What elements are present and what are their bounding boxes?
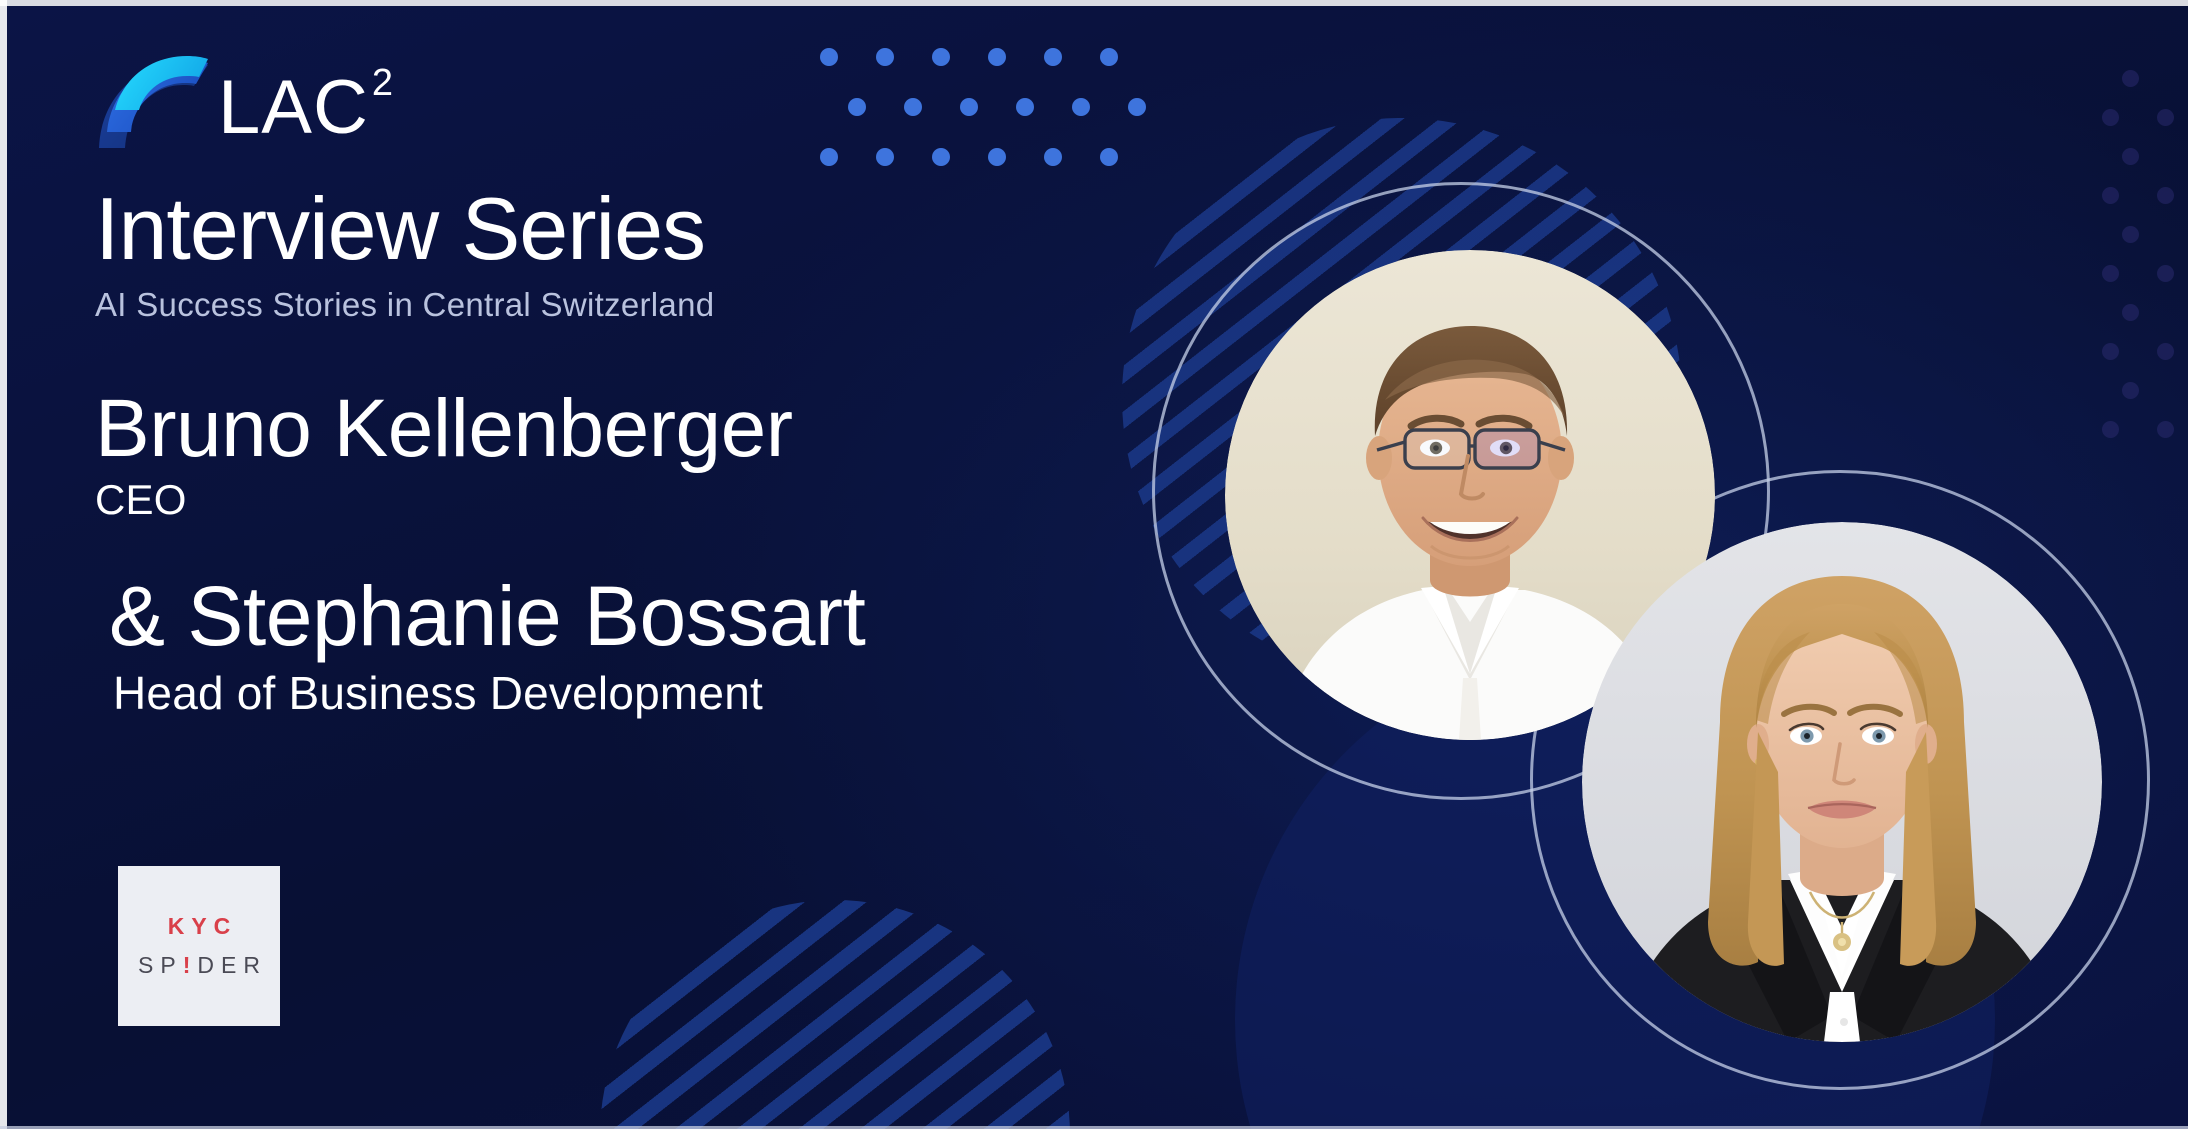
person-block-2: & Stephanie Bossart Head of Business Dev…	[109, 572, 1095, 720]
portrait-stephanie-bossart	[1582, 522, 2102, 1042]
kyc-spider-logo[interactable]: KYC SP!DER	[118, 866, 280, 1026]
dot-row	[2122, 70, 2174, 87]
dot-icon	[2102, 343, 2119, 360]
dot-icon	[2122, 226, 2139, 243]
dot-row	[2102, 187, 2174, 204]
dot-icon	[2157, 343, 2174, 360]
dot-icon	[2122, 382, 2139, 399]
kyc-logo-bottom-text: SP!DER	[131, 952, 267, 979]
dot-row	[2102, 109, 2174, 126]
bottom-edge-rule	[0, 1129, 2188, 1138]
kyc-logo-top-text: KYC	[161, 913, 238, 940]
series-title: Interview Series	[95, 184, 1095, 274]
dot-icon	[1100, 48, 1118, 66]
lac-logo-text: LAC	[218, 70, 369, 146]
spider-text-after: DER	[197, 952, 267, 979]
dot-icon	[2102, 265, 2119, 282]
interview-series-banner: LAC 2 Interview Series AI Success Storie…	[0, 0, 2188, 1138]
dot-icon	[2157, 109, 2174, 126]
dot-row	[2122, 382, 2174, 399]
dot-icon	[1100, 148, 1118, 166]
spider-text-before: SP	[138, 952, 183, 979]
lac2-wordmark: LAC 2	[218, 52, 393, 146]
dot-icon	[2102, 109, 2119, 126]
person-name: & Stephanie Bossart	[109, 572, 1095, 660]
banner-content: LAC 2 Interview Series AI Success Storie…	[95, 52, 1095, 720]
top-edge-rule	[0, 0, 2188, 6]
series-subtitle: AI Success Stories in Central Switzerlan…	[95, 286, 1095, 324]
dot-row	[2102, 343, 2174, 360]
dot-icon	[2122, 148, 2139, 165]
dot-row	[2102, 265, 2174, 282]
dot-icon	[2157, 421, 2174, 438]
lac2-logo[interactable]: LAC 2	[95, 52, 1095, 162]
dot-icon	[1128, 98, 1146, 116]
lac-layered-arc-logo-icon	[95, 52, 210, 152]
spider-exclamation-icon: !	[183, 952, 198, 979]
person-role: Head of Business Development	[113, 666, 1095, 720]
dot-icon	[2122, 70, 2139, 87]
dot-icon	[2157, 187, 2174, 204]
dot-icon	[2122, 304, 2139, 321]
striped-circle-decoration	[600, 900, 1070, 1138]
dot-row	[2102, 421, 2174, 438]
person-block-1: Bruno Kellenberger CEO	[95, 386, 1095, 524]
dot-row	[2122, 304, 2174, 321]
dot-row	[2122, 226, 2174, 243]
dot-row	[2122, 148, 2174, 165]
person-role: CEO	[95, 476, 1095, 524]
lac-logo-superscript: 2	[372, 64, 393, 102]
dot-icon	[2102, 421, 2119, 438]
person-name: Bruno Kellenberger	[95, 386, 1095, 472]
left-edge-rule	[0, 0, 7, 1138]
dot-grid-right	[2102, 70, 2174, 438]
dot-icon	[2157, 265, 2174, 282]
dot-icon	[2102, 187, 2119, 204]
